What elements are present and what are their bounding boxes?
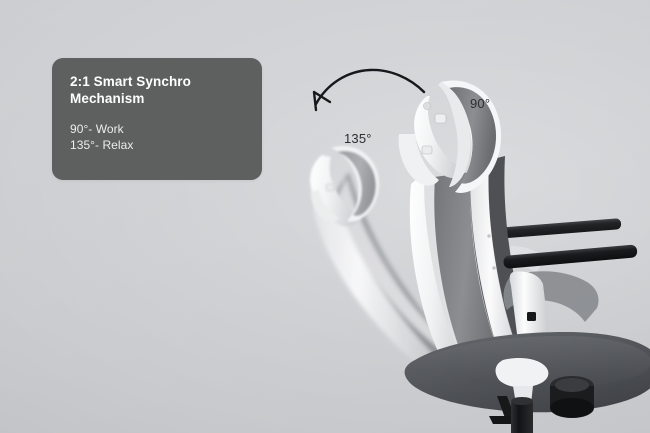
info-card-line-relax: 135°- Relax [70, 137, 244, 153]
info-card: 2:1 Smart Synchro Mechanism 90°- Work 13… [52, 58, 262, 180]
info-card-line-work: 90°- Work [70, 121, 244, 137]
gas-lift-cylinder [511, 397, 533, 433]
info-card-title: 2:1 Smart Synchro Mechanism [70, 73, 230, 107]
chair-illustration [275, 60, 650, 433]
tension-knob [550, 376, 594, 418]
product-infographic: 135° 90° 2:1 Smart Synchro Mechanism 90°… [0, 0, 650, 433]
angle-label-upright: 90° [470, 96, 490, 111]
angle-label-reclined: 135° [344, 131, 372, 146]
